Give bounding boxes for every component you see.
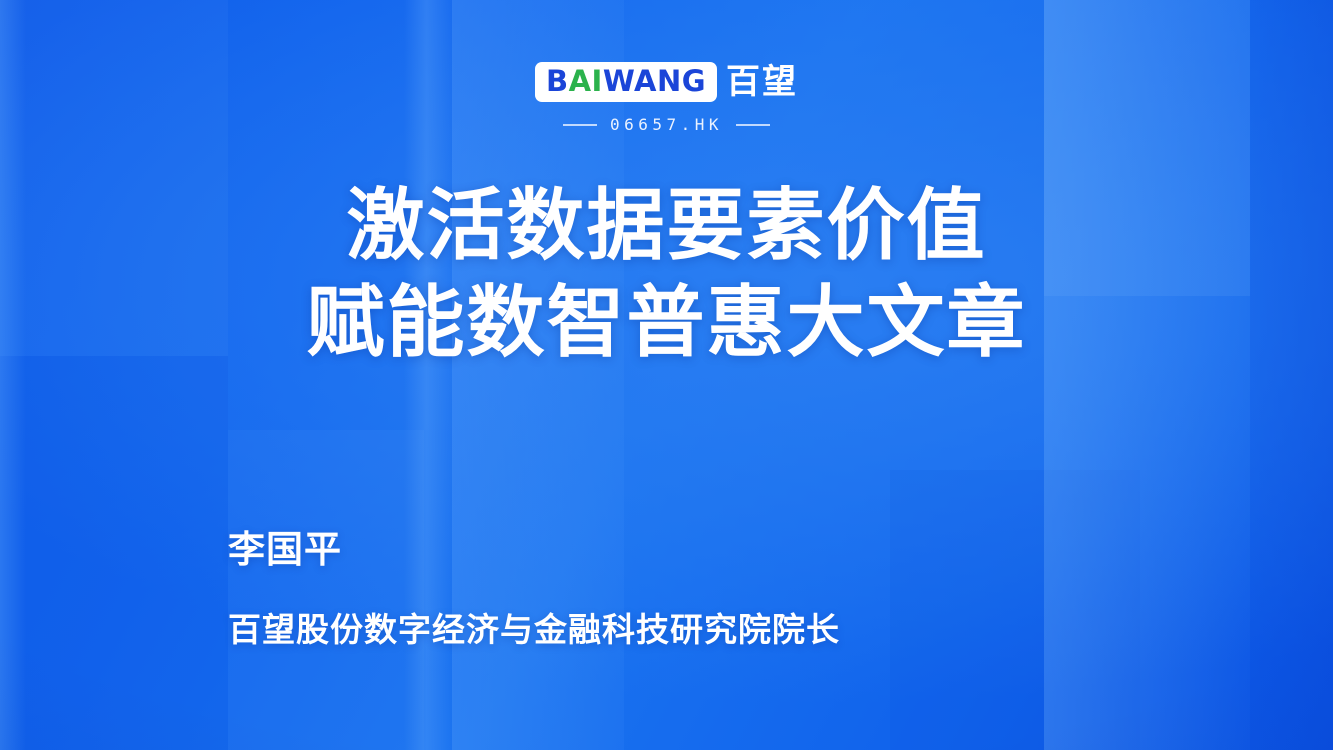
logo-letter-b: B bbox=[546, 64, 569, 98]
ticker-rule-left-icon bbox=[563, 124, 597, 126]
speaker-info: 李国平 百望股份数字经济与金融科技研究院院长 bbox=[228, 529, 840, 649]
title-line-2: 赋能数智普惠大文章 bbox=[0, 275, 1333, 372]
speaker-role: 百望股份数字经济与金融科技研究院院长 bbox=[228, 610, 840, 650]
brand-logo: BAIWANG 百望 06657.HK bbox=[0, 62, 1333, 134]
stock-ticker-row: 06657.HK bbox=[563, 115, 770, 134]
logo-letter-i: I bbox=[592, 64, 603, 98]
logo-letter-a: A bbox=[569, 64, 592, 98]
title-line-1: 激活数据要素价值 bbox=[0, 178, 1333, 275]
speaker-name: 李国平 bbox=[228, 529, 840, 572]
logo-letters-wang: WANG bbox=[603, 64, 706, 98]
stock-ticker-code: 06657.HK bbox=[610, 115, 723, 134]
slide-title: 激活数据要素价值 赋能数智普惠大文章 bbox=[0, 178, 1333, 372]
baiwang-wordmark-badge: BAIWANG bbox=[535, 62, 717, 102]
logo-row: BAIWANG 百望 bbox=[535, 62, 798, 102]
company-name-cn: 百望 bbox=[726, 65, 798, 99]
ticker-rule-right-icon bbox=[736, 124, 770, 126]
presentation-slide: BAIWANG 百望 06657.HK 激活数据要素价值 赋能数智普惠大文章 李… bbox=[0, 0, 1333, 750]
baiwang-wordmark: BAIWANG bbox=[546, 67, 706, 96]
